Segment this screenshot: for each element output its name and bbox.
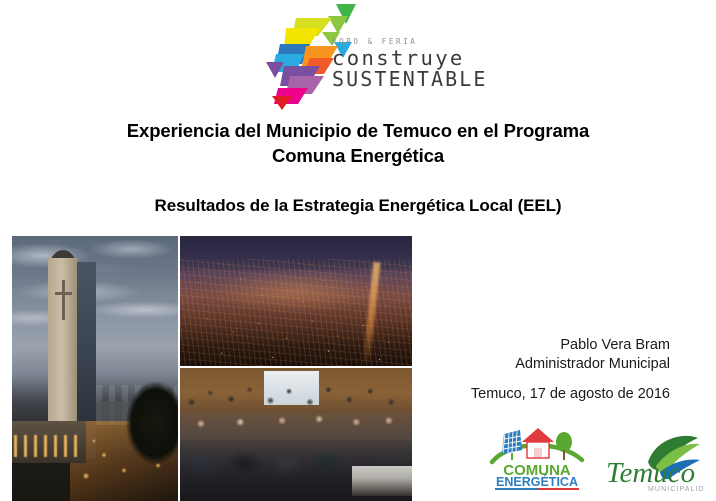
event-logo-sub: SUSTENTABLE xyxy=(332,69,472,89)
presenter-info: Pablo Vera Bram Administrador Municipal xyxy=(515,336,670,374)
photo-collage xyxy=(12,236,412,501)
photo-city-night xyxy=(180,236,412,366)
subtitle-line-1: Resultados de la Estrategia Energética L… xyxy=(0,194,716,217)
photo-cathedral-temuco xyxy=(12,236,178,501)
photo-audience xyxy=(180,368,412,501)
presenter-name: Pablo Vera Bram xyxy=(515,336,670,355)
house-icon xyxy=(522,428,554,458)
solar-panel-icon xyxy=(502,430,522,460)
date-text: Temuco, 17 de agosto de 2016 xyxy=(471,386,670,402)
event-logo-wordmark: FORO & FERIA construye SUSTENTABLE xyxy=(332,38,472,89)
event-logo-kicker: FORO & FERIA xyxy=(332,38,472,46)
comuna-word-bottom: ENERGÉTICA xyxy=(496,474,578,489)
event-logo-main: construye xyxy=(332,48,472,69)
slide-title: Experiencia del Municipio de Temuco en e… xyxy=(0,118,716,168)
temuco-municipalidad-logo: Temuco MUNICIPALIDAD xyxy=(600,432,704,494)
presenter-role: Administrador Municipal xyxy=(515,355,670,374)
slide-subtitle: Resultados de la Estrategia Energética L… xyxy=(0,194,716,217)
tree-icon xyxy=(556,432,572,460)
temuco-word-main: Temuco xyxy=(606,457,695,489)
front-table xyxy=(352,466,412,495)
cross-icon-bar xyxy=(55,292,72,295)
temuco-word-sub: MUNICIPALIDAD xyxy=(648,486,704,493)
event-logo: FORO & FERIA construye SUSTENTABLE xyxy=(262,2,467,110)
title-line-2: Comuna Energética xyxy=(0,143,716,168)
foreground-trees xyxy=(122,351,178,471)
title-line-1: Experiencia del Municipio de Temuco en e… xyxy=(0,118,716,143)
cross-icon xyxy=(62,280,65,320)
slide-date: Temuco, 17 de agosto de 2016 xyxy=(471,386,670,402)
comuna-energetica-logo: COMUNA ENERGÉTICA xyxy=(488,420,586,490)
